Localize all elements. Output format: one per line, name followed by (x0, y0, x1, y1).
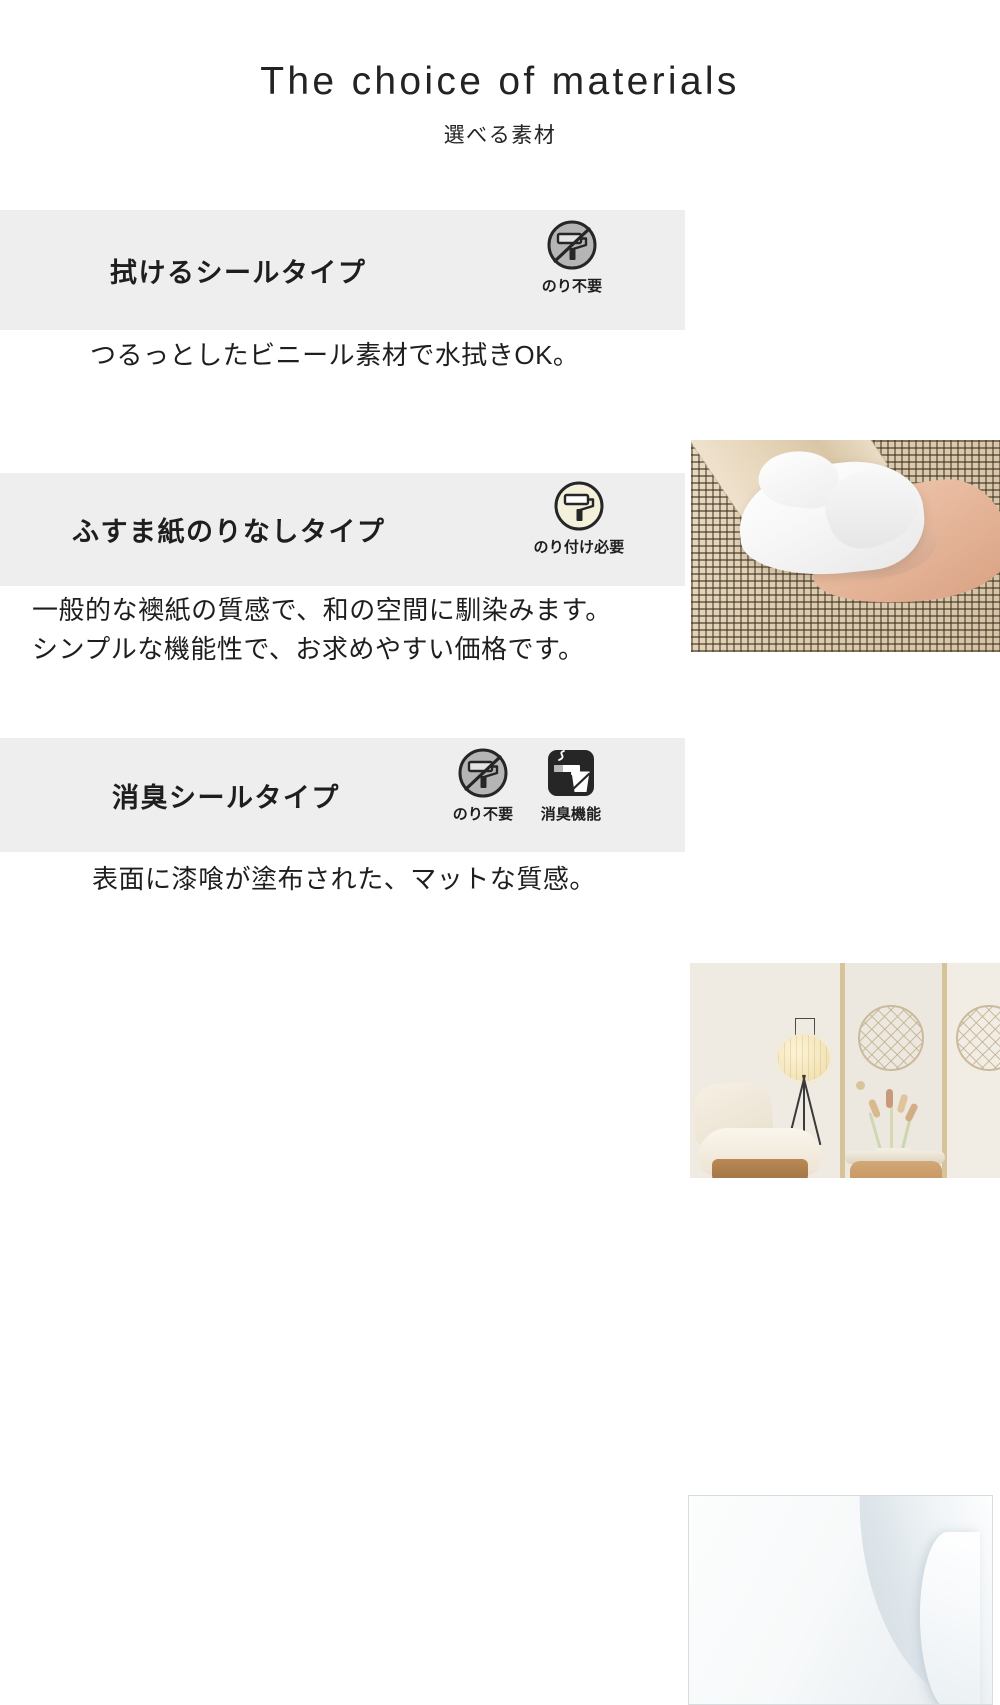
section-description: つるっとしたビニール素材で水拭きOK。 (0, 336, 685, 375)
fusuma-knob (856, 1081, 865, 1090)
badge-label: 消臭機能 (541, 803, 602, 824)
lattice-circle-1 (858, 1005, 924, 1071)
badge-group: のり不要 消臭機能 (447, 746, 607, 824)
material-section-wipeable: 拭けるシールタイプ のり不要 つるっとしたビニール素材で水拭きOK。 (0, 210, 1000, 450)
section-title: 拭けるシールタイプ (110, 251, 366, 290)
badge-label: のり付け必要 (534, 536, 625, 557)
section-description: 一般的な襖紙の質感で、和の空間に馴染みます。 シンプルな機能性で、お求めやすい価… (0, 591, 685, 669)
section-description: 表面に漆喰が塗布された、マットな質感。 (0, 860, 685, 899)
badge-glue-required: のり付け必要 (520, 479, 638, 557)
section-photo-japanese-room (690, 963, 1000, 1178)
section-title: 消臭シールタイプ (112, 776, 340, 815)
page-subtitle: 選べる素材 (444, 119, 557, 149)
section-photo-white-paper (688, 1495, 993, 1705)
armchair-base (712, 1159, 808, 1178)
no-glue-roller-icon (456, 746, 510, 800)
page-header: The choice of materials 選べる素材 (0, 0, 1000, 210)
badge-deodorizing: 消臭機能 (535, 746, 607, 824)
description-line: 表面に漆喰が塗布された、マットな質感。 (92, 860, 685, 899)
material-section-deodorizing: 消臭シールタイプ のり不要 消臭機能 (0, 738, 1000, 978)
badge-label: のり不要 (453, 803, 514, 824)
badge-no-glue: のり不要 (447, 746, 519, 824)
badge-group: のり付け必要 (520, 479, 638, 557)
badge-label: のり不要 (542, 275, 603, 296)
deodorizing-function-icon (544, 746, 598, 800)
side-table-body (850, 1161, 942, 1178)
glue-required-roller-icon (552, 479, 606, 533)
badge-group: のり不要 (536, 218, 608, 296)
pampas-head-2 (886, 1089, 893, 1108)
description-line: シンプルな機能性で、お求めやすい価格です。 (32, 630, 685, 669)
description-line: つるっとしたビニール素材で水拭きOK。 (90, 336, 685, 375)
paper-curl-edge (920, 1532, 980, 1705)
no-glue-roller-icon (545, 218, 599, 272)
lamp-frame-top (795, 1018, 815, 1035)
pampas-stem-2 (890, 1105, 893, 1153)
description-line: 一般的な襖紙の質感で、和の空間に馴染みます。 (32, 591, 685, 630)
badge-no-glue: のり不要 (536, 218, 608, 296)
page-title: The choice of materials (260, 60, 739, 105)
section-title: ふすま紙のりなしタイプ (72, 510, 385, 549)
material-section-fusuma-no-glue: ふすま紙のりなしタイプ のり付け必要 一般的な襖紙の質感で、和の空間に馴染みます… (0, 473, 1000, 713)
